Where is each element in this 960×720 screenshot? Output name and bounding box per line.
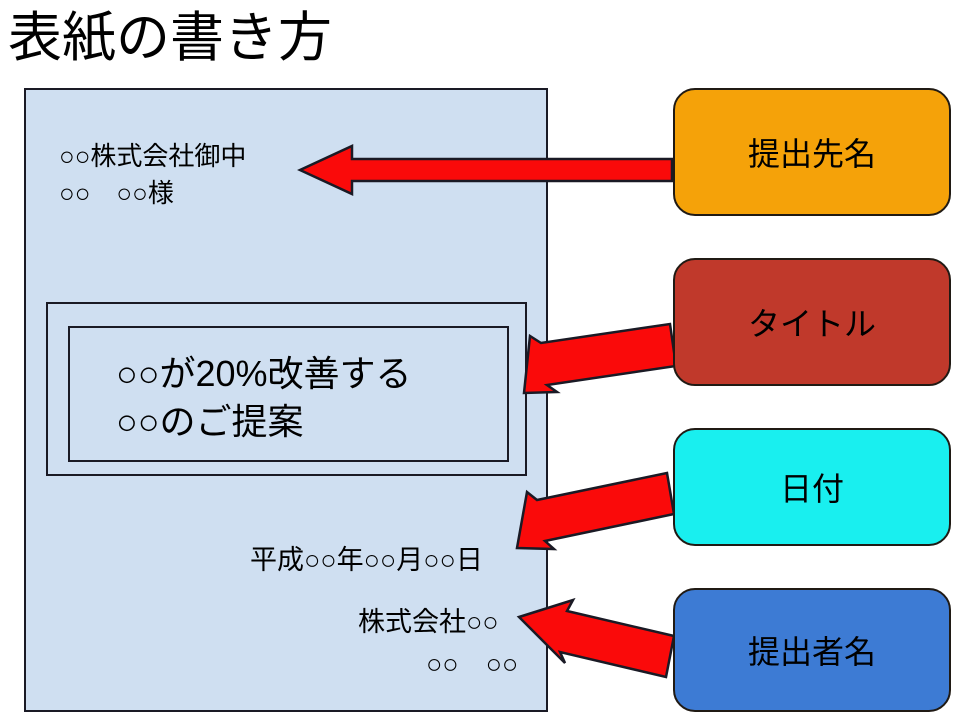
document-title-line-2: ○○のご提案 xyxy=(116,393,304,445)
callout-date-label: 日付 xyxy=(780,464,844,510)
callout-recipient[interactable]: 提出先名 xyxy=(673,88,951,216)
callout-date[interactable]: 日付 xyxy=(673,428,951,546)
addressee-person-text: ○○ ○○様 xyxy=(59,173,174,210)
callout-title-label: タイトル xyxy=(748,299,876,345)
callout-sender[interactable]: 提出者名 xyxy=(673,588,951,712)
callout-title[interactable]: タイトル xyxy=(673,258,951,386)
cover-page-panel: ○○株式会社御中 ○○ ○○様 ○○が20%改善する ○○のご提案 平成○○年○… xyxy=(24,88,548,712)
sender-company-text: 株式会社○○ xyxy=(358,600,499,639)
page-title: 表紙の書き方 xyxy=(8,2,648,76)
callout-recipient-label: 提出先名 xyxy=(748,129,876,175)
addressee-company-text: ○○株式会社御中 xyxy=(59,136,246,173)
title-frame-inner: ○○が20%改善する ○○のご提案 xyxy=(68,326,509,462)
document-title-line-1: ○○が20%改善する xyxy=(116,345,412,397)
document-date-text: 平成○○年○○月○○日 xyxy=(250,538,483,577)
title-frame-outer: ○○が20%改善する ○○のご提案 xyxy=(46,302,527,476)
slide-canvas: 表紙の書き方 ○○株式会社御中 ○○ ○○様 ○○が20%改善する ○○のご提案… xyxy=(0,0,960,720)
sender-person-text: ○○ ○○ xyxy=(426,642,518,681)
callout-sender-label: 提出者名 xyxy=(748,627,876,673)
